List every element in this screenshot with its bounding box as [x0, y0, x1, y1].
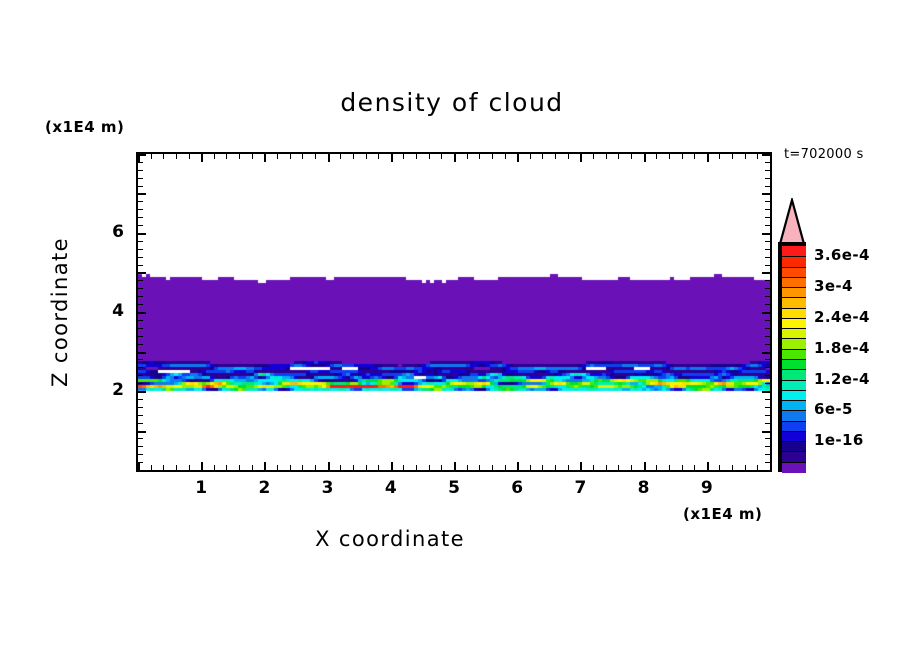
- x-tick: [669, 465, 670, 470]
- colorbar-band: [782, 297, 806, 308]
- x-tick: [176, 465, 177, 470]
- x-tick: [302, 154, 303, 159]
- y-tick: [762, 431, 770, 433]
- x-tick-label: 1: [186, 478, 216, 498]
- y-tick: [765, 375, 770, 376]
- y-tick: [765, 186, 770, 187]
- x-tick: [644, 462, 646, 470]
- x-tick-label: 7: [565, 478, 595, 498]
- y-tick: [765, 201, 770, 202]
- x-tick: [505, 465, 506, 470]
- y-tick: [765, 217, 770, 218]
- x-tick: [201, 154, 203, 162]
- x-tick: [189, 154, 190, 159]
- colorbar-band: [782, 441, 806, 452]
- y-tick: [765, 178, 770, 179]
- x-tick: [530, 465, 531, 470]
- y-tick: [762, 154, 770, 156]
- y-tick: [765, 265, 770, 266]
- y-tick: [138, 209, 143, 210]
- y-tick: [138, 320, 143, 321]
- colorbar-band: [782, 400, 806, 411]
- x-tick: [302, 465, 303, 470]
- x-tick: [353, 465, 354, 470]
- x-tick: [290, 154, 291, 159]
- x-tick: [315, 465, 316, 470]
- x-tick: [441, 465, 442, 470]
- x-tick: [757, 465, 758, 470]
- x-tick: [656, 154, 657, 159]
- x-tick-label: 6: [502, 478, 532, 498]
- x-tick: [340, 465, 341, 470]
- x-tick: [631, 465, 632, 470]
- y-tick: [765, 257, 770, 258]
- x-tick: [593, 465, 594, 470]
- x-tick: [770, 154, 772, 162]
- y-tick: [138, 328, 143, 329]
- y-tick: [762, 470, 770, 472]
- colorbar-band: [782, 328, 806, 339]
- x-tick: [732, 154, 733, 159]
- y-tick: [138, 446, 143, 447]
- y-tick: [138, 391, 146, 393]
- x-tick: [163, 154, 164, 159]
- y-tick: [138, 359, 143, 360]
- x-tick-label: 8: [629, 478, 659, 498]
- density-heatmap: [138, 154, 770, 470]
- colorbar-bands: [778, 242, 806, 472]
- x-tick: [151, 154, 152, 159]
- x-tick: [328, 462, 330, 470]
- y-tick: [138, 265, 143, 266]
- y-tick: [138, 280, 143, 281]
- colorbar-band: [782, 369, 806, 380]
- colorbar-label: 1.2e-4: [814, 370, 870, 388]
- colorbar-band: [782, 421, 806, 432]
- colorbar-label: 2.4e-4: [814, 308, 870, 326]
- x-tick: [366, 465, 367, 470]
- y-tick: [138, 407, 143, 408]
- colorbar: 3.6e-43e-42.4e-41.8e-41.2e-46e-51e-16: [778, 198, 904, 483]
- x-tick-label: 2: [249, 478, 279, 498]
- y-tick: [138, 454, 143, 455]
- y-tick: [765, 367, 770, 368]
- x-tick: [403, 465, 404, 470]
- y-tick: [138, 352, 146, 354]
- x-tick: [745, 465, 746, 470]
- y-tick: [765, 288, 770, 289]
- x-tick: [694, 465, 695, 470]
- x-tick: [732, 465, 733, 470]
- colorbar-label: 3.6e-4: [814, 246, 870, 264]
- x-tick: [378, 154, 379, 159]
- colorbar-band: [782, 338, 806, 349]
- x-tick: [479, 154, 480, 159]
- x-tick: [580, 154, 582, 162]
- x-tick: [568, 465, 569, 470]
- x-tick: [694, 154, 695, 159]
- x-tick: [492, 465, 493, 470]
- colorbar-band: [782, 287, 806, 298]
- x-tick: [757, 154, 758, 159]
- plot-area: [136, 152, 772, 472]
- y-tick: [765, 241, 770, 242]
- colorbar-band: [782, 410, 806, 421]
- y-tick-label: 2: [94, 380, 124, 400]
- y-tick: [138, 178, 143, 179]
- x-tick: [682, 465, 683, 470]
- y-tick: [765, 415, 770, 416]
- y-tick: [762, 233, 770, 235]
- x-tick-label: 9: [692, 478, 722, 498]
- y-tick: [138, 431, 146, 433]
- x-tick: [492, 154, 493, 159]
- y-tick: [138, 272, 146, 274]
- x-tick: [264, 154, 266, 162]
- x-tick: [290, 465, 291, 470]
- colorbar-band: [782, 318, 806, 329]
- x-tick: [568, 154, 569, 159]
- y-tick: [138, 304, 143, 305]
- y-tick: [765, 446, 770, 447]
- time-annotation: t=702000 s: [784, 147, 864, 162]
- y-tick: [762, 391, 770, 393]
- y-tick: [138, 288, 143, 289]
- x-tick: [618, 154, 619, 159]
- x-tick-label: 5: [439, 478, 469, 498]
- x-tick: [618, 465, 619, 470]
- y-tick: [765, 170, 770, 171]
- y-tick: [138, 336, 143, 337]
- colorbar-band: [782, 462, 806, 473]
- x-tick: [517, 462, 519, 470]
- y-tick: [138, 415, 143, 416]
- x-tick: [707, 462, 709, 470]
- x-tick: [391, 462, 393, 470]
- x-tick: [277, 465, 278, 470]
- x-tick: [454, 462, 456, 470]
- x-tick: [328, 154, 330, 162]
- y-tick: [765, 359, 770, 360]
- y-tick: [138, 367, 143, 368]
- x-tick: [239, 154, 240, 159]
- y-axis-unit-label: (x1E4 m): [45, 118, 124, 136]
- y-tick: [765, 304, 770, 305]
- x-tick-label: 4: [376, 478, 406, 498]
- x-tick: [505, 154, 506, 159]
- y-tick: [138, 154, 146, 156]
- y-tick: [765, 320, 770, 321]
- colorbar-band: [782, 277, 806, 288]
- y-tick: [765, 296, 770, 297]
- colorbar-band: [782, 390, 806, 401]
- x-tick: [226, 154, 227, 159]
- x-tick: [517, 154, 519, 162]
- x-tick: [189, 465, 190, 470]
- x-tick: [719, 465, 720, 470]
- y-tick: [138, 186, 143, 187]
- y-tick: [138, 193, 146, 195]
- x-tick: [530, 154, 531, 159]
- y-tick: [765, 344, 770, 345]
- y-tick: [138, 438, 143, 439]
- x-tick: [542, 154, 543, 159]
- y-tick-label: 6: [94, 222, 124, 242]
- y-tick: [138, 225, 143, 226]
- x-tick: [454, 154, 456, 162]
- x-tick: [719, 154, 720, 159]
- x-tick: [682, 154, 683, 159]
- colorbar-band: [782, 308, 806, 319]
- x-tick: [277, 154, 278, 159]
- y-tick: [765, 383, 770, 384]
- colorbar-label: 3e-4: [814, 277, 853, 295]
- x-tick: [138, 462, 140, 470]
- y-tick: [762, 352, 770, 354]
- x-tick: [770, 462, 772, 470]
- x-tick: [214, 465, 215, 470]
- y-tick: [765, 336, 770, 337]
- y-tick: [765, 225, 770, 226]
- y-tick: [762, 312, 770, 314]
- x-tick: [252, 465, 253, 470]
- x-tick: [644, 154, 646, 162]
- x-tick-label: 3: [313, 478, 343, 498]
- colorbar-band: [782, 431, 806, 442]
- y-tick-label: 4: [94, 301, 124, 321]
- x-tick: [593, 154, 594, 159]
- y-axis-title: Z coordinate: [48, 212, 72, 412]
- y-tick: [765, 209, 770, 210]
- y-tick: [765, 423, 770, 424]
- x-tick: [391, 154, 393, 162]
- x-tick: [467, 154, 468, 159]
- x-tick: [340, 154, 341, 159]
- colorbar-band: [782, 380, 806, 391]
- y-tick: [138, 241, 143, 242]
- x-tick: [163, 465, 164, 470]
- colorbar-band: [782, 349, 806, 360]
- y-tick: [138, 312, 146, 314]
- x-tick: [479, 465, 480, 470]
- y-tick: [765, 454, 770, 455]
- x-tick: [606, 465, 607, 470]
- y-tick: [138, 344, 143, 345]
- y-tick: [765, 462, 770, 463]
- x-tick: [555, 154, 556, 159]
- figure-canvas: density of cloud (x1E4 m) t=702000 s Z c…: [0, 0, 904, 654]
- y-tick: [138, 249, 143, 250]
- x-tick: [366, 154, 367, 159]
- x-tick: [429, 465, 430, 470]
- y-tick: [138, 399, 143, 400]
- x-tick: [353, 154, 354, 159]
- y-tick: [138, 233, 146, 235]
- x-tick: [429, 154, 430, 159]
- x-tick: [467, 465, 468, 470]
- y-tick: [762, 193, 770, 195]
- x-tick: [580, 462, 582, 470]
- x-tick: [239, 465, 240, 470]
- colorbar-band: [782, 359, 806, 370]
- x-tick: [745, 154, 746, 159]
- x-tick: [264, 462, 266, 470]
- x-tick: [151, 465, 152, 470]
- x-tick: [252, 154, 253, 159]
- y-tick: [138, 470, 146, 472]
- y-tick: [765, 249, 770, 250]
- x-tick: [201, 462, 203, 470]
- y-tick: [138, 162, 143, 163]
- y-tick: [138, 296, 143, 297]
- x-tick: [416, 465, 417, 470]
- x-tick: [542, 465, 543, 470]
- x-tick: [416, 154, 417, 159]
- x-axis-unit-label: (x1E4 m): [683, 505, 762, 523]
- x-axis-title: X coordinate: [0, 527, 780, 551]
- x-tick: [707, 154, 709, 162]
- colorbar-band: [782, 246, 806, 257]
- colorbar-label: 1e-16: [814, 431, 864, 449]
- y-tick: [765, 162, 770, 163]
- x-tick: [669, 154, 670, 159]
- y-tick: [765, 328, 770, 329]
- x-tick: [214, 154, 215, 159]
- colorbar-band: [782, 451, 806, 462]
- colorbar-band: [782, 256, 806, 267]
- x-tick: [226, 465, 227, 470]
- y-tick: [138, 257, 143, 258]
- x-tick: [315, 154, 316, 159]
- y-tick: [765, 407, 770, 408]
- y-tick: [765, 280, 770, 281]
- y-tick: [138, 217, 143, 218]
- y-tick: [765, 438, 770, 439]
- colorbar-band: [782, 267, 806, 278]
- x-tick: [176, 154, 177, 159]
- y-tick: [762, 272, 770, 274]
- y-tick: [138, 423, 143, 424]
- x-tick: [606, 154, 607, 159]
- x-tick: [555, 465, 556, 470]
- y-tick: [138, 201, 143, 202]
- x-tick: [631, 154, 632, 159]
- page-title: density of cloud: [0, 88, 904, 117]
- colorbar-label: 1.8e-4: [814, 339, 870, 357]
- x-tick: [378, 465, 379, 470]
- x-tick: [403, 154, 404, 159]
- x-tick: [656, 465, 657, 470]
- y-tick: [138, 170, 143, 171]
- colorbar-over-arrow-icon: [778, 198, 806, 244]
- y-tick: [138, 375, 143, 376]
- x-tick: [441, 154, 442, 159]
- y-tick: [138, 462, 143, 463]
- y-tick: [138, 383, 143, 384]
- colorbar-label: 6e-5: [814, 400, 853, 418]
- y-tick: [765, 399, 770, 400]
